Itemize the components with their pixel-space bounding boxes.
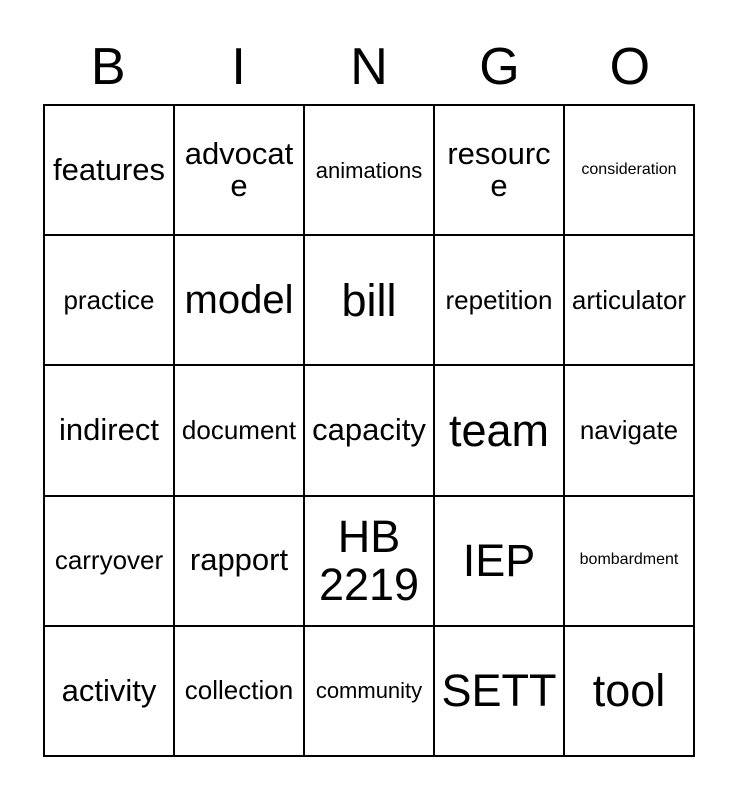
bingo-cell[interactable]: practice [45, 236, 175, 366]
bingo-cell-text: model [179, 279, 299, 321]
bingo-cell[interactable]: consideration [565, 106, 695, 236]
bingo-cell[interactable]: capacity [305, 366, 435, 496]
bingo-cell-text: HB 2219 [309, 513, 429, 608]
bingo-cell-text: repetition [439, 287, 559, 314]
bingo-header-cell-i: I [173, 30, 303, 104]
bingo-header-letter-n: N [350, 41, 388, 93]
bingo-cell-text: advocate [179, 138, 299, 203]
bingo-cell[interactable]: bombardment [565, 497, 695, 627]
bingo-header: B I N G O [43, 30, 695, 104]
bingo-header-cell-g: G [434, 30, 564, 104]
bingo-cell[interactable]: HB 2219 [305, 497, 435, 627]
bingo-cell-text: bombardment [569, 552, 689, 569]
bingo-cell[interactable]: indirect [45, 366, 175, 496]
bingo-cell[interactable]: team [435, 366, 565, 496]
bingo-cell-text: consideration [569, 162, 689, 179]
bingo-cell[interactable]: document [175, 366, 305, 496]
bingo-cell[interactable]: animations [305, 106, 435, 236]
bingo-cell-text: indirect [49, 414, 169, 447]
bingo-header-letter-b: B [91, 41, 126, 93]
bingo-cell-text: animations [309, 159, 429, 182]
bingo-cell[interactable]: activity [45, 627, 175, 757]
bingo-header-cell-o: O [565, 30, 695, 104]
bingo-row: activity collection community SETT tool [45, 627, 695, 757]
bingo-cell-text: rapport [179, 544, 299, 577]
bingo-header-letter-i: I [231, 41, 245, 93]
bingo-row: practice model bill repetition articulat… [45, 236, 695, 366]
bingo-header-cell-n: N [304, 30, 434, 104]
bingo-cell[interactable]: SETT [435, 627, 565, 757]
bingo-cell[interactable]: resource [435, 106, 565, 236]
bingo-cell-text: articulator [569, 287, 689, 314]
bingo-header-letter-o: O [610, 41, 650, 93]
bingo-cell-text: carryover [49, 547, 169, 574]
bingo-cell[interactable]: repetition [435, 236, 565, 366]
bingo-cell[interactable]: community [305, 627, 435, 757]
bingo-row: carryover rapport HB 2219 IEP bombardmen… [45, 497, 695, 627]
bingo-cell-text: features [49, 154, 169, 187]
bingo-cell-text: SETT [439, 667, 559, 714]
bingo-cell[interactable]: navigate [565, 366, 695, 496]
bingo-cell-text: practice [49, 287, 169, 314]
bingo-grid: features advocate animations resource co… [43, 104, 695, 757]
bingo-cell[interactable]: collection [175, 627, 305, 757]
bingo-cell[interactable]: model [175, 236, 305, 366]
bingo-cell-text: IEP [439, 537, 559, 584]
bingo-cell[interactable]: articulator [565, 236, 695, 366]
bingo-cell[interactable]: bill [305, 236, 435, 366]
bingo-cell[interactable]: carryover [45, 497, 175, 627]
bingo-cell-text: capacity [309, 414, 429, 447]
bingo-header-cell-b: B [43, 30, 173, 104]
bingo-cell[interactable]: rapport [175, 497, 305, 627]
bingo-row: features advocate animations resource co… [45, 106, 695, 236]
bingo-cell-text: activity [49, 675, 169, 708]
bingo-cell[interactable]: tool [565, 627, 695, 757]
bingo-cell-text: navigate [569, 417, 689, 444]
bingo-cell-text: community [309, 679, 429, 702]
bingo-header-letter-g: G [479, 41, 519, 93]
bingo-cell-text: document [179, 417, 299, 444]
bingo-card: B I N G O features advocate animations [0, 0, 736, 800]
bingo-cell-text: team [439, 407, 559, 454]
bingo-cell[interactable]: features [45, 106, 175, 236]
bingo-cell-text: resource [439, 138, 559, 203]
bingo-cell-text: bill [309, 277, 429, 324]
bingo-row: indirect document capacity team navigate [45, 366, 695, 496]
bingo-cell[interactable]: advocate [175, 106, 305, 236]
bingo-cell-text: collection [179, 677, 299, 704]
bingo-cell-text: tool [569, 667, 689, 714]
bingo-cell[interactable]: IEP [435, 497, 565, 627]
